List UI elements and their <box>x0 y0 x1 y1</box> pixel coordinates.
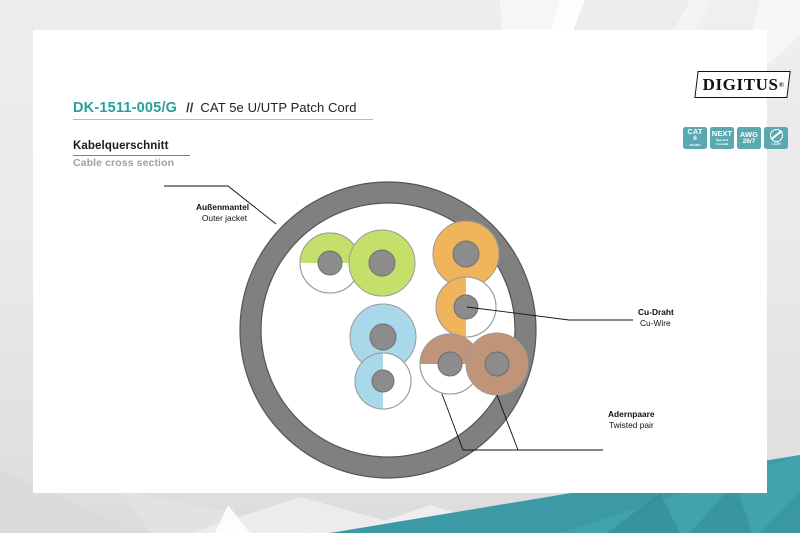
wire-green-solid <box>349 230 415 296</box>
logo-wordmark: DIGITUS® <box>696 71 789 98</box>
callout-outer-jacket: Außenmantel Outer jacket <box>196 202 249 224</box>
next-badge: NEXT Near End Crosstalk <box>710 127 734 149</box>
digitus-logo: DIGITUS® <box>696 71 789 98</box>
callout-twisted-pair-de: Adernpaare <box>608 409 655 420</box>
awg-badge: AWG 26/7 <box>737 127 761 149</box>
callout-outer-jacket-en: Outer jacket <box>196 213 249 224</box>
cable-cross-section-diagram <box>33 30 767 493</box>
registered-trademark-icon: ® <box>779 81 785 89</box>
wire-brown-solid <box>466 333 528 395</box>
cat6-badge-line3: 250 MHz <box>689 144 700 147</box>
callout-cu-wire-en: Cu-Wire <box>638 318 674 329</box>
callout-outer-jacket-de: Außenmantel <box>196 202 249 213</box>
next-badge-line1: NEXT <box>712 130 732 138</box>
awg-badge-line2: 26/7 <box>743 139 756 146</box>
lszh-badge-label: LSZH <box>771 143 780 147</box>
cat6-badge-line2: 6 <box>693 136 697 143</box>
wire-orange-striped <box>436 277 496 337</box>
callout-twisted-pair-en: Twisted pair <box>608 420 655 431</box>
lszh-badge: LSZH <box>764 127 788 149</box>
next-badge-line3: Near End Crosstalk <box>711 139 734 146</box>
callout-cu-wire: Cu-Draht Cu-Wire <box>638 307 674 329</box>
wire-blue-striped <box>355 353 411 409</box>
callout-twisted-pair: Adernpaare Twisted pair <box>608 409 655 431</box>
cat6-badge: CAT 6 250 MHz <box>683 127 707 149</box>
no-halogen-icon <box>770 129 783 142</box>
document-sheet: DIGITUS® DK-1511-005/G // CAT 5e U/UTP P… <box>33 30 767 493</box>
spec-badges: CAT 6 250 MHz NEXT Near End Crosstalk AW… <box>683 127 788 149</box>
logo-label: DIGITUS <box>703 75 779 95</box>
callout-cu-wire-de: Cu-Draht <box>638 307 674 318</box>
blue-pair <box>350 304 416 409</box>
